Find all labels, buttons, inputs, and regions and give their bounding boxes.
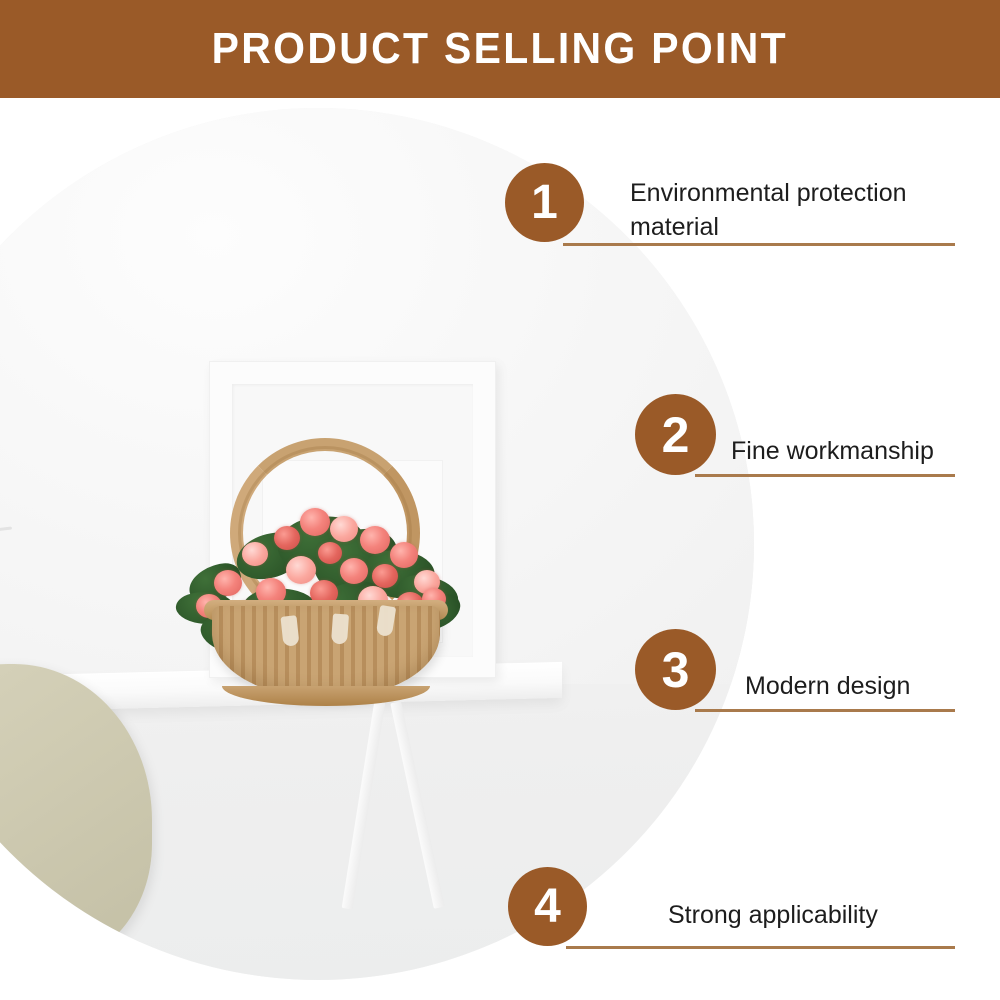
flower-blossom bbox=[360, 526, 390, 554]
selling-point-number-badge: 3 bbox=[635, 629, 716, 710]
flower-blossom bbox=[330, 516, 358, 542]
header-banner: PRODUCT SELLING POINT bbox=[0, 0, 1000, 98]
selling-point-underline bbox=[566, 946, 955, 949]
flower-blossom bbox=[390, 542, 418, 568]
selling-point-label: Environmental protection material bbox=[630, 176, 950, 244]
basket-decor-tag bbox=[331, 613, 349, 644]
flower-basket bbox=[182, 438, 472, 708]
selling-point-underline bbox=[695, 709, 955, 712]
basket-decor-tag bbox=[280, 615, 299, 647]
selling-point-label: Strong applicability bbox=[668, 898, 968, 932]
selling-point-number-badge: 1 bbox=[505, 163, 584, 242]
flower-blossom bbox=[274, 526, 300, 550]
selling-point-number-badge: 2 bbox=[635, 394, 716, 475]
flower-blossom bbox=[340, 558, 368, 584]
flower-blossom bbox=[214, 570, 242, 596]
page-title: PRODUCT SELLING POINT bbox=[212, 27, 788, 71]
table-leg bbox=[390, 701, 444, 909]
flower-blossom bbox=[286, 556, 316, 584]
selling-point-underline bbox=[563, 243, 955, 246]
flower-blossom bbox=[300, 508, 330, 536]
basket-base bbox=[222, 686, 430, 706]
flower-blossom bbox=[318, 542, 342, 564]
chair-backrest bbox=[0, 664, 152, 964]
selling-point-label: Modern design bbox=[745, 669, 1000, 703]
product-selling-point-infographic: PRODUCT SELLING POINT bbox=[0, 0, 1000, 1000]
selling-point-label: Fine workmanship bbox=[731, 434, 1000, 468]
flower-blossom bbox=[242, 542, 268, 566]
table-leg bbox=[342, 700, 386, 909]
selling-point-underline bbox=[695, 474, 955, 477]
basket-body bbox=[212, 606, 440, 698]
selling-point-number-badge: 4 bbox=[508, 867, 587, 946]
flower-blossom bbox=[372, 564, 398, 588]
